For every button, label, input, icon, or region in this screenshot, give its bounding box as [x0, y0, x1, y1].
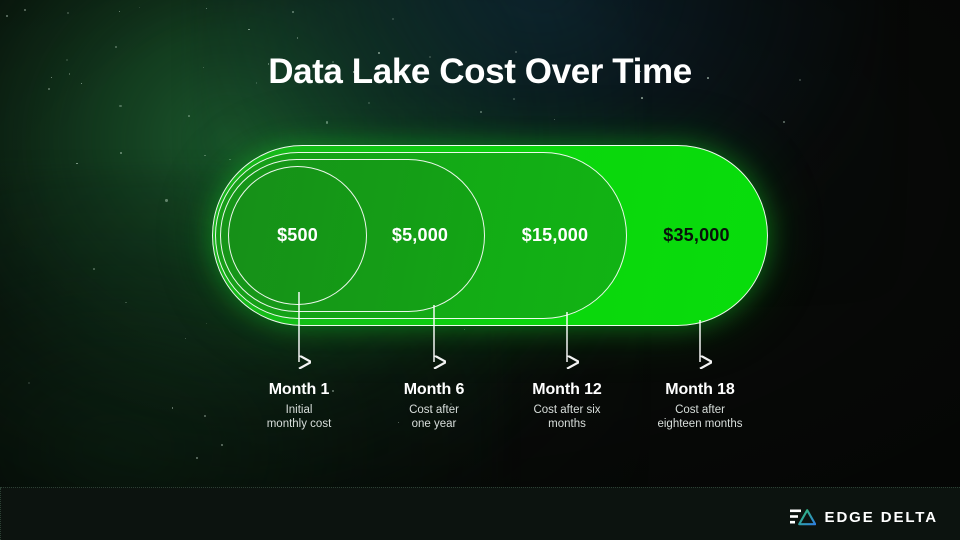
brand-lockup[interactable]: EDGE DELTA	[790, 507, 938, 527]
milestone-sub-line2: months	[548, 418, 586, 430]
nested-pill-chart: $35,000 $15,000 $5,000 $500	[0, 0, 960, 540]
brand-name: EDGE DELTA	[825, 509, 938, 526]
milestone-sub-line2: eighteen months	[657, 418, 742, 430]
edge-delta-logo-icon	[790, 507, 816, 527]
milestone-sub-line2: one year	[412, 418, 457, 430]
milestone-labels: Month 1 Initial monthly cost Month 6 Cos…	[0, 381, 960, 441]
infographic-slide: Data Lake Cost Over Time $35,000 $15,000…	[0, 0, 960, 540]
footer-left-border	[0, 488, 2, 540]
milestone-month-18: Month 18 Cost after eighteen months	[615, 381, 785, 431]
milestone-sub-line1: Cost after	[675, 404, 725, 416]
milestone-title: Month 18	[615, 381, 785, 399]
milestone-sub-line2: monthly cost	[267, 418, 332, 430]
milestone-sub-line1: Cost after	[409, 404, 459, 416]
milestone-sub-line1: Cost after six	[533, 404, 600, 416]
milestone-sub-line1: Initial	[286, 404, 313, 416]
connector-arrows	[0, 0, 960, 540]
milestone-subtitle: Cost after eighteen months	[615, 403, 785, 431]
